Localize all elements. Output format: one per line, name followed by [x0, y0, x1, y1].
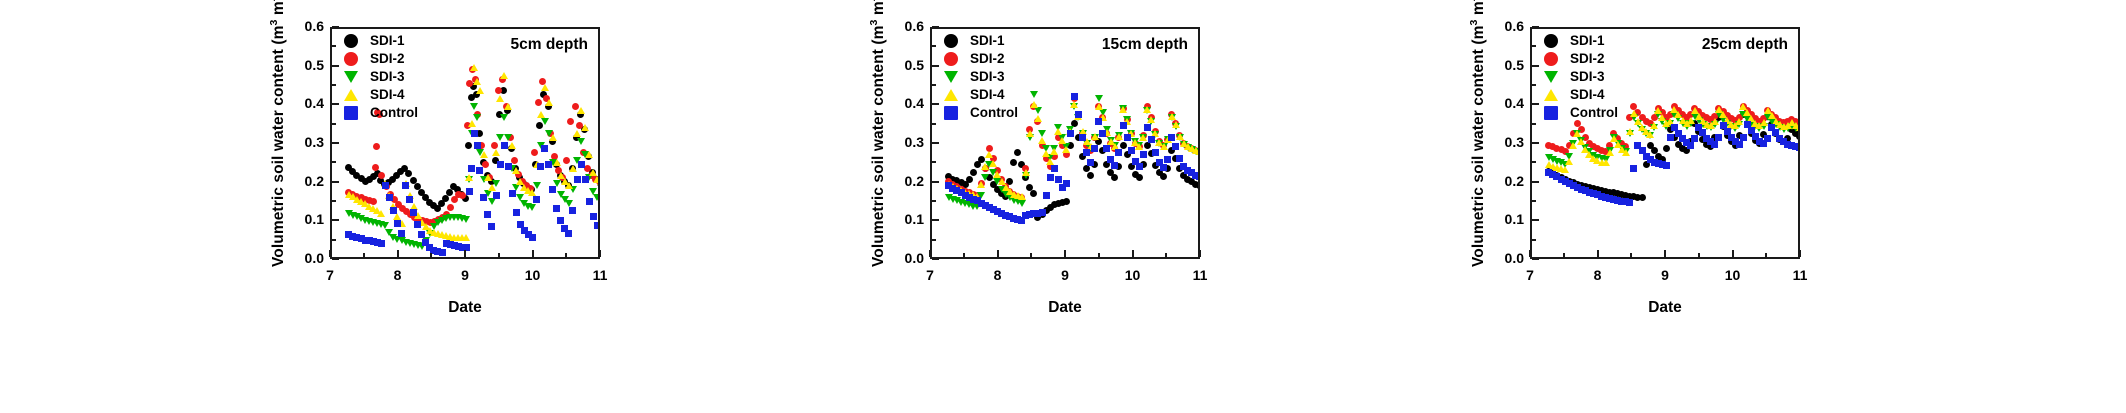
data-point	[1140, 151, 1147, 158]
x-tick-label: 9	[445, 267, 485, 283]
y-tick-mark	[332, 103, 339, 105]
data-point	[1626, 199, 1633, 206]
data-point	[569, 207, 576, 214]
data-point	[501, 142, 508, 149]
data-point	[1630, 165, 1637, 172]
x-tick-mark	[329, 250, 331, 257]
data-point	[1196, 173, 1200, 180]
data-point	[398, 230, 405, 237]
data-point	[1124, 134, 1131, 141]
legend-circle-icon	[1544, 52, 1558, 66]
y-tick-label: 0.0	[286, 250, 324, 266]
x-tick-mark	[397, 250, 399, 257]
data-point	[1051, 165, 1058, 172]
legend-label: Control	[970, 105, 1018, 121]
y-tick-mark	[932, 142, 939, 144]
data-point	[1172, 143, 1179, 150]
y-axis-label: Volumetric soil water content (m3 m-3)	[868, 0, 888, 267]
legend-triangle-down-icon	[944, 71, 958, 83]
x-minor-tick	[1630, 253, 1632, 257]
data-point	[1071, 93, 1078, 100]
data-point	[1111, 162, 1118, 169]
data-point	[1079, 134, 1086, 141]
y-minor-tick	[332, 200, 336, 202]
data-point	[1764, 135, 1771, 142]
x-tick-mark	[1199, 250, 1201, 257]
data-point	[1115, 149, 1122, 156]
data-point	[1736, 141, 1743, 148]
legend-triangle-up-icon	[944, 89, 958, 101]
depth-annotation: 15cm depth	[1102, 36, 1188, 54]
data-point	[529, 234, 536, 241]
data-point	[480, 194, 487, 201]
data-point	[533, 196, 540, 203]
legend-circle-icon	[944, 34, 958, 48]
y-tick-label: 0.6	[1486, 18, 1524, 34]
x-axis-label: Date	[1530, 299, 1800, 317]
x-tick-label: 8	[978, 267, 1018, 283]
legend-triangle-up-icon	[1544, 89, 1558, 101]
data-point	[574, 176, 581, 183]
data-point	[1095, 118, 1102, 125]
data-point	[476, 167, 483, 174]
legend-label: SDI-2	[970, 51, 1005, 67]
x-minor-tick	[565, 253, 567, 257]
y-tick-label: 0.1	[1486, 211, 1524, 227]
y-tick-mark	[1532, 103, 1539, 105]
data-point	[378, 240, 385, 247]
legend-label: SDI-2	[370, 51, 405, 67]
data-point	[406, 196, 413, 203]
data-point	[582, 176, 589, 183]
x-tick-mark	[464, 250, 466, 257]
legend-label: SDI-3	[370, 69, 405, 85]
legend-square-icon	[1544, 106, 1558, 120]
data-point	[1152, 149, 1159, 156]
legend-label: SDI-4	[970, 87, 1005, 103]
x-tick-label: 8	[378, 267, 418, 283]
data-point	[1144, 124, 1151, 131]
y-tick-label: 0.4	[1486, 95, 1524, 111]
data-point	[1711, 141, 1718, 148]
legend-label: SDI-2	[1570, 51, 1605, 67]
x-tick-label: 9	[1045, 267, 1085, 283]
y-minor-tick	[1532, 200, 1536, 202]
data-point	[1063, 180, 1070, 187]
data-point	[439, 249, 446, 256]
data-point	[484, 211, 491, 218]
y-minor-tick	[332, 45, 336, 47]
y-tick-label: 0.0	[1486, 250, 1524, 266]
y-minor-tick	[1532, 161, 1536, 163]
data-point	[565, 230, 572, 237]
x-tick-label: 10	[513, 267, 553, 283]
y-minor-tick	[932, 161, 936, 163]
data-point	[1091, 145, 1098, 152]
y-tick-mark	[332, 258, 339, 260]
y-minor-tick	[1532, 45, 1536, 47]
x-axis-label: Date	[930, 299, 1200, 317]
data-point	[505, 163, 512, 170]
data-point	[513, 209, 520, 216]
y-minor-tick	[932, 45, 936, 47]
data-point	[471, 130, 478, 137]
y-tick-mark	[932, 26, 939, 28]
data-point	[466, 188, 473, 195]
data-point	[414, 221, 421, 228]
legend-triangle-up-icon	[344, 89, 358, 101]
y-tick-label: 0.3	[286, 134, 324, 150]
x-tick-label: 7	[1510, 267, 1550, 283]
y-tick-label: 0.6	[886, 18, 924, 34]
legend-triangle-down-icon	[1544, 71, 1558, 83]
data-point	[1164, 156, 1171, 163]
data-point	[1099, 130, 1106, 137]
x-tick-label: 8	[1578, 267, 1618, 283]
data-point	[386, 194, 393, 201]
figure-soil-water-content: 0.60.50.40.30.20.10.07891011DateVolumetr…	[0, 0, 2126, 413]
legend-label: SDI-1	[370, 33, 405, 49]
y-tick-label: 0.3	[1486, 134, 1524, 150]
y-tick-label: 0.4	[886, 95, 924, 111]
y-tick-mark	[932, 219, 939, 221]
y-axis-label: Volumetric soil water content (m3 m-3)	[268, 0, 288, 267]
y-minor-tick	[332, 123, 336, 125]
y-tick-label: 0.4	[286, 95, 324, 111]
y-tick-mark	[332, 26, 339, 28]
x-minor-tick	[963, 253, 965, 257]
data-point	[1691, 135, 1698, 142]
legend-square-icon	[944, 106, 958, 120]
legend-label: SDI-1	[1570, 33, 1605, 49]
y-tick-mark	[1532, 142, 1539, 144]
data-point	[1039, 209, 1046, 216]
data-point	[1087, 159, 1094, 166]
data-point	[557, 217, 564, 224]
data-point	[1687, 142, 1694, 149]
legend-label: Control	[370, 105, 418, 121]
legend-triangle-down-icon	[344, 71, 358, 83]
data-point	[578, 161, 585, 168]
y-tick-mark	[332, 142, 339, 144]
data-point	[1148, 136, 1155, 143]
depth-annotation: 5cm depth	[510, 36, 588, 54]
data-point	[1083, 149, 1090, 156]
x-tick-mark	[1799, 250, 1801, 257]
y-minor-tick	[332, 239, 336, 241]
y-tick-label: 0.5	[286, 57, 324, 73]
y-tick-label: 0.1	[286, 211, 324, 227]
y-tick-mark	[332, 181, 339, 183]
x-tick-mark	[1597, 250, 1599, 257]
legend-label: SDI-4	[370, 87, 405, 103]
data-point	[418, 231, 425, 238]
legend-label: SDI-3	[970, 69, 1005, 85]
x-tick-label: 9	[1645, 267, 1685, 283]
x-minor-tick	[430, 253, 432, 257]
y-axis-label: Volumetric soil water content (m3 m-3)	[1468, 0, 1488, 267]
data-point	[410, 209, 417, 216]
y-tick-mark	[1532, 181, 1539, 183]
x-minor-tick	[1698, 253, 1700, 257]
x-tick-label: 10	[1713, 267, 1753, 283]
data-point	[598, 227, 600, 234]
x-tick-mark	[1732, 250, 1734, 257]
data-point	[1160, 164, 1167, 171]
y-tick-mark	[932, 103, 939, 105]
legend-label: Control	[1570, 105, 1618, 121]
y-minor-tick	[332, 161, 336, 163]
y-minor-tick	[332, 84, 336, 86]
x-tick-mark	[532, 250, 534, 257]
x-tick-label: 11	[1180, 267, 1220, 283]
data-point	[488, 223, 495, 230]
y-tick-label: 0.5	[1486, 57, 1524, 73]
y-tick-label: 0.2	[286, 173, 324, 189]
data-point	[1120, 122, 1127, 129]
y-minor-tick	[932, 239, 936, 241]
data-point	[474, 142, 481, 149]
data-point	[382, 182, 389, 189]
data-point	[1136, 163, 1143, 170]
x-tick-mark	[1529, 250, 1531, 257]
data-point	[1667, 134, 1674, 141]
y-tick-mark	[932, 181, 939, 183]
y-minor-tick	[1532, 239, 1536, 241]
x-minor-tick	[1765, 253, 1767, 257]
y-tick-label: 0.0	[886, 250, 924, 266]
y-tick-mark	[932, 258, 939, 260]
data-point	[590, 213, 597, 220]
legend-label: SDI-3	[1570, 69, 1605, 85]
data-point	[1663, 162, 1670, 169]
data-point	[537, 163, 544, 170]
data-point	[1740, 134, 1747, 141]
data-point	[1075, 111, 1082, 118]
y-tick-mark	[1532, 26, 1539, 28]
x-minor-tick	[1098, 253, 1100, 257]
data-point	[1715, 134, 1722, 141]
x-tick-mark	[1664, 250, 1666, 257]
data-point	[1103, 145, 1110, 152]
data-point	[402, 182, 409, 189]
y-tick-label: 0.6	[286, 18, 324, 34]
x-tick-mark	[929, 250, 931, 257]
legend-circle-icon	[944, 52, 958, 66]
x-tick-label: 10	[1113, 267, 1153, 283]
data-point	[541, 145, 548, 152]
y-tick-mark	[332, 219, 339, 221]
data-point	[545, 161, 552, 168]
x-minor-tick	[1563, 253, 1565, 257]
depth-annotation: 25cm depth	[1702, 36, 1788, 54]
y-tick-label: 0.2	[886, 173, 924, 189]
data-point	[509, 190, 516, 197]
data-point	[1067, 130, 1074, 137]
y-tick-mark	[932, 65, 939, 67]
data-point	[1055, 176, 1062, 183]
legend-circle-icon	[344, 34, 358, 48]
y-tick-mark	[1532, 65, 1539, 67]
data-point	[1047, 174, 1054, 181]
data-point	[1043, 192, 1050, 199]
x-tick-mark	[599, 250, 601, 257]
data-point	[493, 192, 500, 199]
x-tick-label: 7	[310, 267, 350, 283]
data-point	[586, 198, 593, 205]
x-tick-mark	[997, 250, 999, 257]
data-point	[1128, 147, 1135, 154]
x-tick-label: 7	[910, 267, 950, 283]
data-point	[553, 205, 560, 212]
x-minor-tick	[1165, 253, 1167, 257]
x-minor-tick	[1030, 253, 1032, 257]
x-minor-tick	[363, 253, 365, 257]
x-tick-label: 11	[1780, 267, 1820, 283]
y-tick-label: 0.1	[886, 211, 924, 227]
y-tick-mark	[1532, 219, 1539, 221]
x-minor-tick	[498, 253, 500, 257]
y-minor-tick	[932, 84, 936, 86]
y-tick-label: 0.5	[886, 57, 924, 73]
x-tick-label: 11	[580, 267, 620, 283]
legend-circle-icon	[1544, 34, 1558, 48]
data-point	[1168, 134, 1175, 141]
data-point	[394, 220, 401, 227]
y-tick-label: 0.3	[886, 134, 924, 150]
x-axis-label: Date	[330, 299, 600, 317]
y-tick-mark	[332, 65, 339, 67]
data-point	[1796, 144, 1800, 151]
data-point	[549, 186, 556, 193]
data-point	[497, 161, 504, 168]
y-minor-tick	[1532, 84, 1536, 86]
y-minor-tick	[1532, 123, 1536, 125]
y-tick-label: 0.2	[1486, 173, 1524, 189]
y-minor-tick	[932, 200, 936, 202]
data-point	[1176, 155, 1183, 162]
x-tick-mark	[1132, 250, 1134, 257]
legend-square-icon	[344, 106, 358, 120]
legend-label: SDI-1	[970, 33, 1005, 49]
legend-circle-icon	[344, 52, 358, 66]
y-tick-mark	[1532, 258, 1539, 260]
x-tick-mark	[1064, 250, 1066, 257]
legend-label: SDI-4	[1570, 87, 1605, 103]
y-minor-tick	[932, 123, 936, 125]
data-point	[390, 207, 397, 214]
data-point	[468, 165, 475, 172]
